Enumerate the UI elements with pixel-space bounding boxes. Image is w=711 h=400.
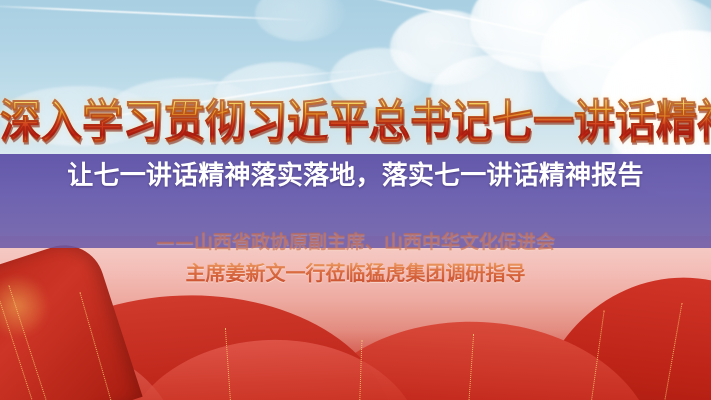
banner-headline: 深入学习贯彻习近平总书记七一讲话精神 xyxy=(0,95,711,149)
overlay-title: 让七一讲话精神落实落地，落实七一讲话精神报告 xyxy=(0,158,711,194)
subtitle-line-2: 主席姜新文一行莅临猛虎集团调研指导 xyxy=(0,260,711,286)
subtitle-line-1: ——山西省政协原副主席、山西中华文化促进会 xyxy=(0,230,711,254)
poster-image: 深入学习贯彻习近平总书记七一讲话精神 让七一讲话精神落实落地，落实七一讲话精神报… xyxy=(0,0,711,400)
cloud-shape xyxy=(255,0,345,41)
